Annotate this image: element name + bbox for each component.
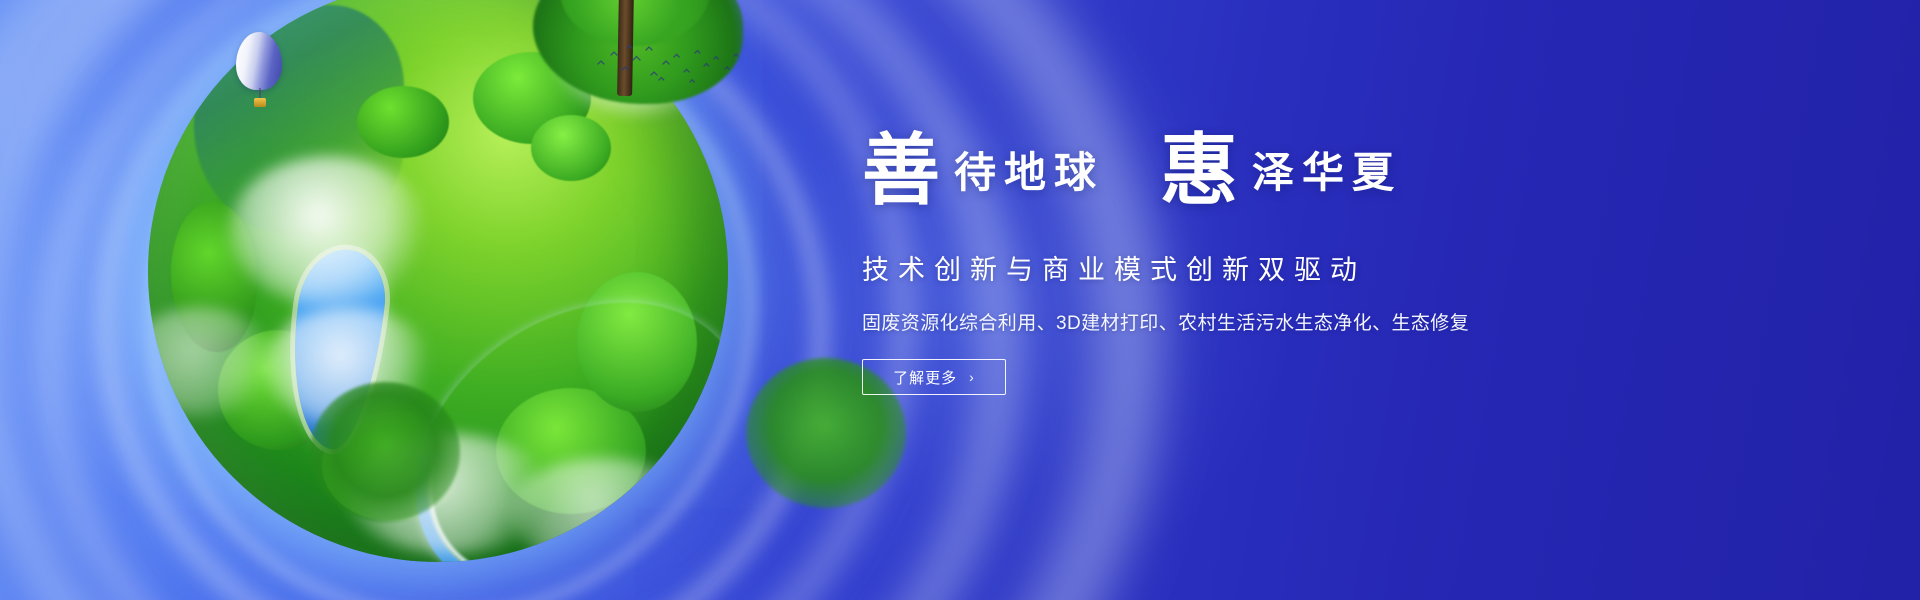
cloud-mist [264, 307, 434, 427]
headline-part2-small: 泽华夏 [1252, 152, 1402, 194]
lake-shape [281, 244, 391, 453]
hero-content: 善 待地球 惠 泽华夏 技术创新与商业模式创新双驱动 固废资源化综合利用、3D建… [862, 128, 1762, 395]
hero-subtitle: 技术创新与商业模式创新双驱动 [862, 248, 1762, 287]
foliage-blob [171, 202, 257, 352]
foliage-blob [322, 411, 462, 521]
tree-icon [310, 382, 460, 522]
hero-description: 固废资源化综合利用、3D建材打印、农村生活污水生态净化、生态修复 [862, 308, 1762, 335]
cloud-mist [554, 5, 724, 115]
birds-icon [594, 44, 744, 90]
headline-part1-big: 善 [862, 132, 940, 210]
hot-air-balloon-icon [236, 32, 282, 110]
river-shape [359, 242, 728, 562]
learn-more-button[interactable]: 了解更多 › [862, 359, 1006, 395]
headline-part2-big: 惠 [1160, 132, 1238, 210]
mountain-ridge [194, 5, 404, 235]
balloon-rope [259, 88, 261, 100]
cloud-mist [345, 434, 555, 554]
tree-icon [560, 0, 710, 46]
cloud-mist [148, 307, 275, 417]
river-highlight [376, 258, 728, 562]
cloud-mist [508, 458, 698, 562]
chevron-right-icon: › [969, 369, 975, 385]
tree-icon [533, 0, 743, 104]
foliage-blob [577, 272, 697, 412]
hero-banner: 善 待地球 惠 泽华夏 技术创新与商业模式创新双驱动 固废资源化综合利用、3D建… [0, 0, 1920, 600]
tree-trunk [617, 0, 634, 96]
foliage-blob [496, 388, 646, 514]
cloud-swirl-arc [31, 0, 874, 600]
foliage-blob [473, 52, 591, 144]
page-title: 善 待地球 惠 泽华夏 [862, 128, 1762, 224]
learn-more-label: 了解更多 [893, 367, 957, 388]
balloon-basket [254, 98, 266, 107]
cloud-mist [229, 156, 429, 306]
foliage-blob [218, 330, 338, 450]
cloud-swirl-arc [0, 0, 945, 600]
foliage-blob [357, 86, 449, 158]
headline-part1-small: 待地球 [954, 152, 1104, 194]
foliage-blob [531, 115, 611, 181]
globe-illustration [148, 0, 728, 562]
balloon-envelope [236, 32, 282, 90]
globe-sphere [148, 0, 728, 562]
